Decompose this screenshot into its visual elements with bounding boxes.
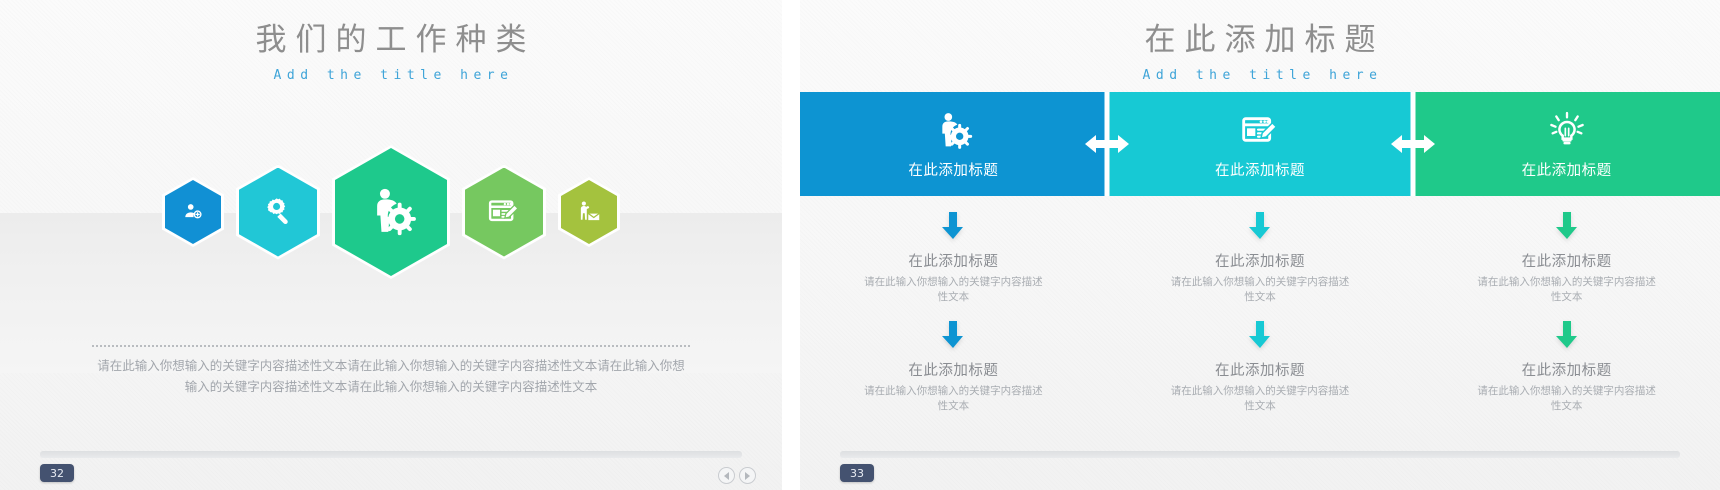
column-divider-1 xyxy=(1104,92,1109,196)
gear-wrench-icon xyxy=(261,195,295,229)
page-number-badge-right: 33 xyxy=(840,464,874,482)
add-user-icon xyxy=(182,201,204,223)
footer-bar-left xyxy=(40,451,742,458)
column-1-step-1: 在此添加标题 请在此输入你想输入的关键字内容描述性文本 xyxy=(861,208,1046,305)
person-mail-icon xyxy=(577,200,602,225)
person-gear-icon xyxy=(365,186,417,238)
column-3: 在此添加标题 在此添加标题 请在此输入你想输入的关键字内容描述性文本 xyxy=(1413,92,1720,430)
browser-edit-icon xyxy=(1240,109,1280,151)
slide-separator xyxy=(782,0,800,490)
chevron-right-icon xyxy=(744,472,751,480)
column-group: 在此添加标题 在此添加标题 请在此输入你想输入的关键字内容描述性文本 xyxy=(800,92,1720,430)
divider-dotted xyxy=(92,345,690,347)
footer-bar-right xyxy=(840,451,1680,458)
browser-edit-icon xyxy=(487,195,521,229)
column-3-banner-label: 在此添加标题 xyxy=(1522,159,1612,180)
column-1-steps: 在此添加标题 请在此输入你想输入的关键字内容描述性文本 在此添加标题 请在此输入… xyxy=(800,196,1107,430)
page-subtitle-right: Add the title here xyxy=(800,68,1720,83)
column-1-step-2-desc: 请在此输入你想输入的关键字内容描述性文本 xyxy=(861,384,1046,414)
hexagon-row xyxy=(0,132,782,292)
column-3-step-1: 在此添加标题 请在此输入你想输入的关键字内容描述性文本 xyxy=(1474,208,1659,305)
hexagon-item-5[interactable] xyxy=(558,177,620,247)
column-3-step-2-desc: 请在此输入你想输入的关键字内容描述性文本 xyxy=(1474,384,1659,414)
column-2-step-2-title: 在此添加标题 xyxy=(1215,359,1305,380)
hexagon-item-1[interactable] xyxy=(162,177,224,247)
prev-button[interactable] xyxy=(718,467,735,484)
arrow-down-icon xyxy=(1556,321,1578,353)
lightbulb-icon xyxy=(1547,109,1587,151)
next-button[interactable] xyxy=(739,467,756,484)
arrow-down-icon xyxy=(1249,212,1271,244)
column-3-step-2-title: 在此添加标题 xyxy=(1522,359,1612,380)
column-3-step-1-title: 在此添加标题 xyxy=(1522,250,1612,271)
left-title-zone: 我们的工作种类 Add the title here xyxy=(0,0,782,83)
person-gear-icon xyxy=(933,109,973,151)
right-title-zone: 在此添加标题 Add the title here xyxy=(800,0,1720,83)
column-2-step-2: 在此添加标题 请在此输入你想输入的关键字内容描述性文本 xyxy=(1168,317,1353,414)
column-3-step-1-desc: 请在此输入你想输入的关键字内容描述性文本 xyxy=(1474,275,1659,305)
hexagon-item-3[interactable] xyxy=(332,145,450,279)
page-number-badge-left: 32 xyxy=(40,464,74,482)
column-3-steps: 在此添加标题 请在此输入你想输入的关键字内容描述性文本 在此添加标题 请在此输入… xyxy=(1413,196,1720,430)
page-title: 我们的工作种类 xyxy=(0,22,782,59)
column-2-steps: 在此添加标题 请在此输入你想输入的关键字内容描述性文本 在此添加标题 请在此输入… xyxy=(1107,196,1414,430)
column-1-banner[interactable]: 在此添加标题 xyxy=(800,92,1107,196)
column-divider-2 xyxy=(1411,92,1416,196)
arrow-down-icon xyxy=(942,212,964,244)
chevron-left-icon xyxy=(723,472,730,480)
column-2: 在此添加标题 在此添加标题 请在此输入你想输入的关键字内容描述性文本 xyxy=(1107,92,1414,430)
column-2-step-2-desc: 请在此输入你想输入的关键字内容描述性文本 xyxy=(1168,384,1353,414)
column-2-step-1: 在此添加标题 请在此输入你想输入的关键字内容描述性文本 xyxy=(1168,208,1353,305)
body-paragraph: 请在此输入你想输入的关键字内容描述性文本请在此输入你想输入的关键字内容描述性文本… xyxy=(92,355,690,397)
column-2-banner-label: 在此添加标题 xyxy=(1215,159,1305,180)
column-2-banner[interactable]: 在此添加标题 xyxy=(1107,92,1414,196)
hexagon-item-4[interactable] xyxy=(462,165,546,260)
column-1: 在此添加标题 在此添加标题 请在此输入你想输入的关键字内容描述性文本 xyxy=(800,92,1107,430)
nav-controls[interactable] xyxy=(718,467,756,484)
slide-right: 在此添加标题 Add the title here xyxy=(800,0,1720,490)
hexagon-item-2[interactable] xyxy=(236,165,320,260)
column-3-step-2: 在此添加标题 请在此输入你想输入的关键字内容描述性文本 xyxy=(1474,317,1659,414)
column-1-step-1-desc: 请在此输入你想输入的关键字内容描述性文本 xyxy=(861,275,1046,305)
column-2-step-1-desc: 请在此输入你想输入的关键字内容描述性文本 xyxy=(1168,275,1353,305)
slide-deck: 我们的工作种类 Add the title here xyxy=(0,0,1720,490)
page-title-right: 在此添加标题 xyxy=(800,22,1720,59)
page-subtitle: Add the title here xyxy=(0,68,782,83)
column-1-step-2-title: 在此添加标题 xyxy=(908,359,998,380)
column-2-step-1-title: 在此添加标题 xyxy=(1215,250,1305,271)
arrow-down-icon xyxy=(942,321,964,353)
column-1-step-1-title: 在此添加标题 xyxy=(908,250,998,271)
arrow-down-icon xyxy=(1556,212,1578,244)
column-1-step-2: 在此添加标题 请在此输入你想输入的关键字内容描述性文本 xyxy=(861,317,1046,414)
slide-left: 我们的工作种类 Add the title here xyxy=(0,0,782,490)
arrow-down-icon xyxy=(1249,321,1271,353)
column-1-banner-label: 在此添加标题 xyxy=(908,159,998,180)
column-3-banner[interactable]: 在此添加标题 xyxy=(1413,92,1720,196)
